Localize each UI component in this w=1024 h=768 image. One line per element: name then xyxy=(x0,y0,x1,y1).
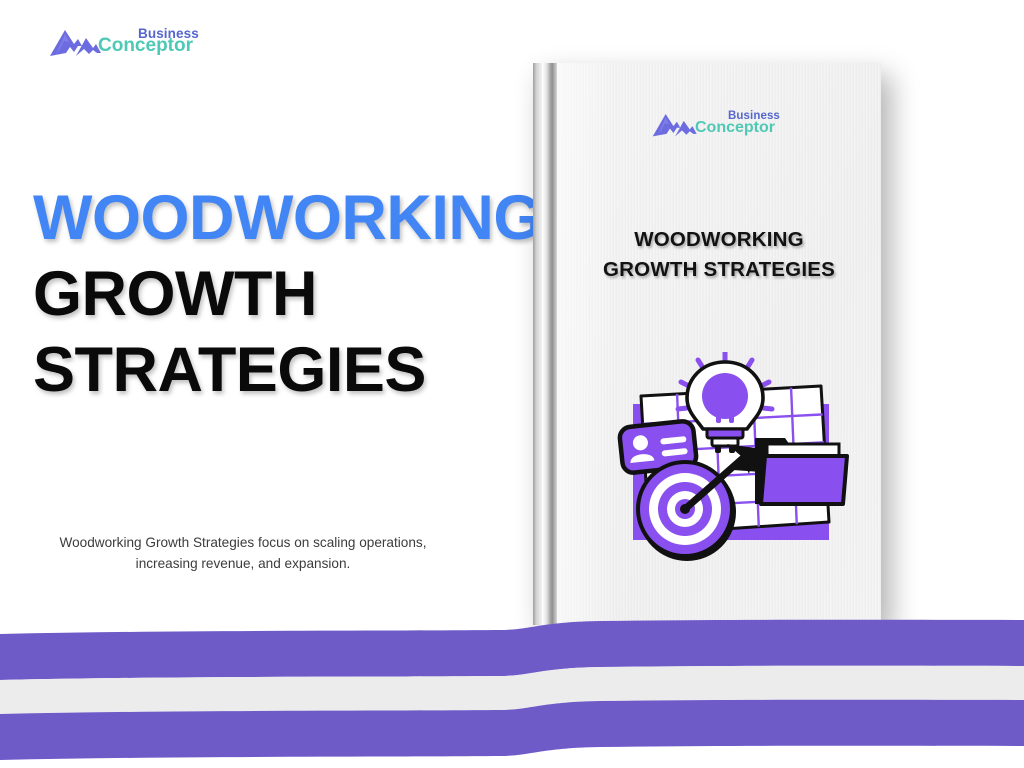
book-cover-title-line-2: GROWTH STRATEGIES xyxy=(557,255,881,285)
business-strategy-illustration xyxy=(615,352,859,572)
mountain-peaks-icon xyxy=(651,107,701,140)
brand-wordmark: Business Conceptor xyxy=(98,27,199,56)
brand-word-conceptor: Conceptor xyxy=(695,120,780,136)
wave-band-gap xyxy=(0,666,1024,714)
headline-line-2: GROWTH xyxy=(33,256,503,332)
wave-band-top xyxy=(0,620,1024,680)
folder-icon xyxy=(755,438,847,504)
book-cover-title-line-1: WOODWORKING xyxy=(557,225,881,255)
brand-wordmark: Business Conceptor xyxy=(695,111,780,136)
brand-word-conceptor: Conceptor xyxy=(98,36,199,55)
slide-canvas: Business Conceptor WOODWORKING GROWTH ST… xyxy=(0,0,1024,768)
wave-band-bottom xyxy=(0,700,1024,760)
book-cover-title: WOODWORKING GROWTH STRATEGIES xyxy=(557,225,881,286)
bottom-wave-decoration xyxy=(0,608,1024,768)
book-spine-outer xyxy=(533,63,542,625)
page-title: WOODWORKING GROWTH STRATEGIES xyxy=(33,180,503,409)
subtitle-text: Woodworking Growth Strategies focus on s… xyxy=(33,532,453,574)
book-mockup: Business Conceptor WOODWORKING GROWTH ST… xyxy=(533,63,881,625)
book-spine-gap xyxy=(542,63,549,625)
cover-brand-logo: Business Conceptor xyxy=(651,107,780,140)
headline-line-1: WOODWORKING xyxy=(33,180,503,256)
book-spine-edge xyxy=(549,63,557,625)
header-brand-logo: Business Conceptor xyxy=(48,22,199,60)
headline-line-3: STRATEGIES xyxy=(33,332,503,408)
